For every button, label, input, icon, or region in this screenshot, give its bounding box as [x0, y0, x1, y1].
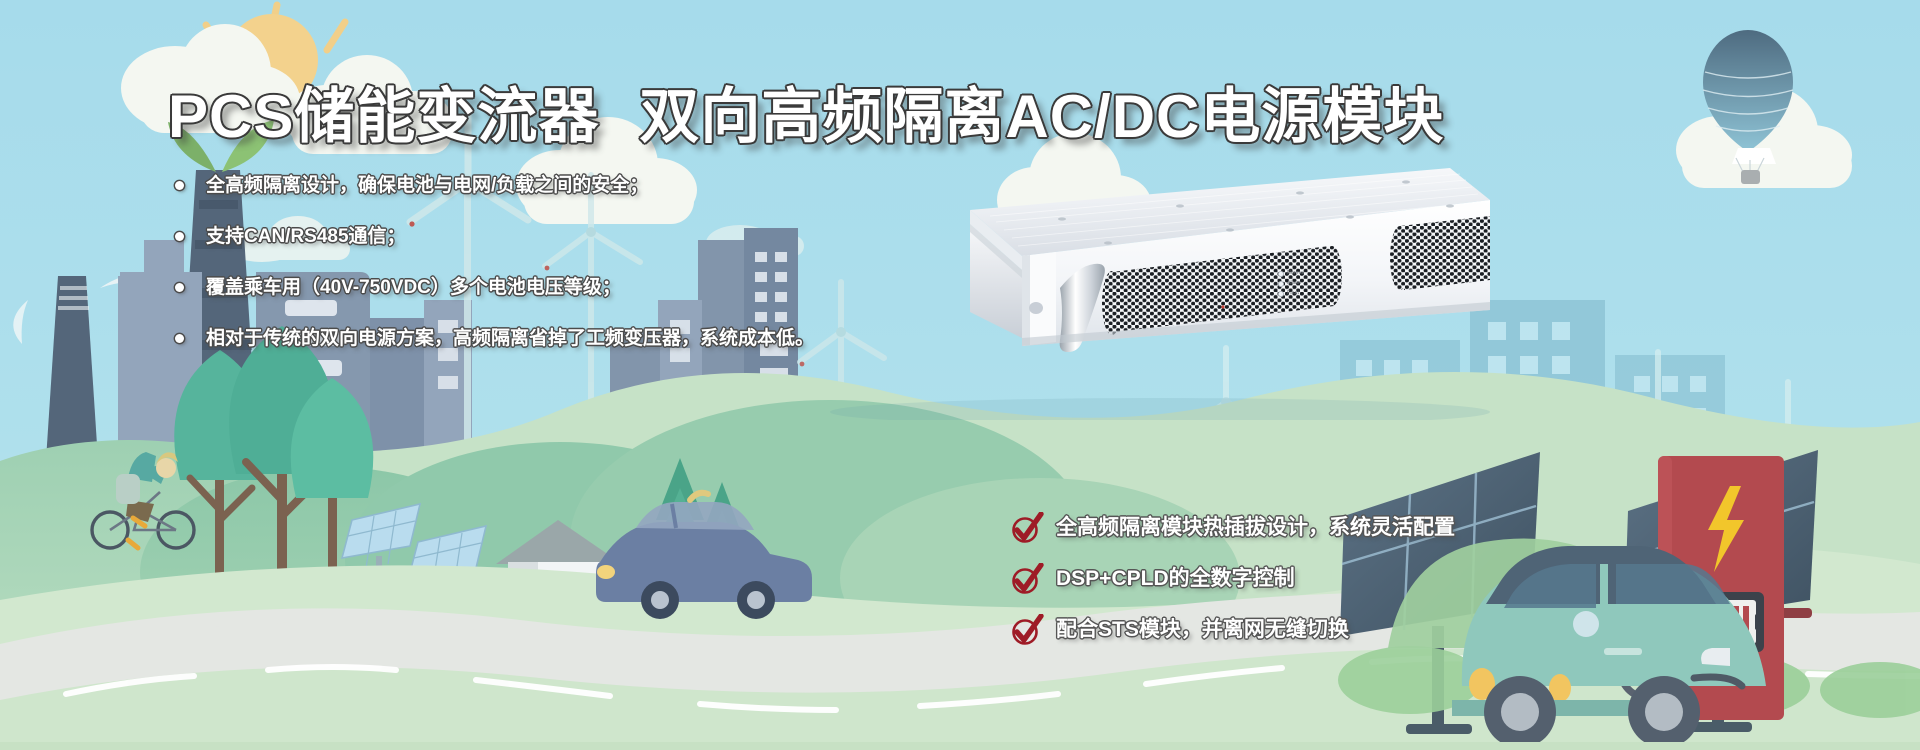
led-label-alarm: Alarm — [1287, 280, 1301, 286]
list-item: DSP+CPLD的全数字控制 — [1010, 565, 1710, 593]
car-blue — [596, 493, 812, 619]
highlight-text: 全高频隔离模块热插拔设计，系统灵活配置 — [1056, 516, 1455, 539]
pcs-rack-module: Normal Alarm Fault — [760, 160, 1490, 420]
led-label-fault: Fault — [1287, 290, 1299, 296]
feature-text: 支持CAN/RS485通信； — [206, 226, 406, 247]
cyclist — [92, 452, 194, 548]
highlight-list: 全高频隔离模块热插拔设计，系统灵活配置 DSP+CPLD的全数字控制 配合STS… — [1010, 514, 1710, 667]
list-item: 相对于传统的双向电源方案，高频隔离省掉了工频变压器，系统成本低。 — [170, 325, 860, 352]
led-indicators — [1278, 271, 1283, 296]
trees — [174, 326, 747, 616]
highlight-text: 配合STS模块，并离网无缝切换 — [1056, 618, 1349, 641]
title-part-1: PCS储能变流器 — [168, 83, 599, 150]
list-item: 支持CAN/RS485通信； — [170, 223, 860, 250]
house — [496, 520, 622, 628]
list-item: 全高频隔离模块热插拔设计，系统灵活配置 — [1010, 514, 1710, 542]
check-mark-icon — [1010, 512, 1044, 544]
hot-air-balloon-icon — [1703, 30, 1793, 184]
check-mark-icon — [1010, 563, 1044, 595]
bullet-dot-icon — [175, 334, 184, 343]
bullet-dot-icon — [175, 181, 184, 190]
check-mark-icon — [1010, 614, 1044, 646]
small-chimney — [13, 275, 158, 460]
page-title: PCS储能变流器双向高频隔离AC/DC电源模块 — [168, 68, 1444, 155]
feature-list: 全高频隔离设计，确保电池与电网/负载之间的安全； 支持CAN/RS485通信； … — [170, 172, 860, 362]
product-banner: Normal Alarm Fault PCS储能变流器双向高频隔离AC/DC电源… — [0, 0, 1920, 750]
list-item: 配合STS模块，并离网无缝切换 — [1010, 616, 1710, 644]
bullet-dot-icon — [175, 232, 184, 241]
bullet-dot-icon — [175, 283, 184, 292]
solar-panel — [408, 526, 486, 609]
list-item: 全高频隔离设计，确保电池与电网/负载之间的安全； — [170, 172, 860, 199]
title-part-2: 双向高频隔离AC/DC电源模块 — [639, 83, 1444, 150]
solar-panel — [342, 504, 420, 587]
wind-turbine — [1746, 382, 1832, 580]
list-item: 覆盖乘车用（40V-750VDC）多个电池电压等级； — [170, 274, 860, 301]
highlight-text: DSP+CPLD的全数字控制 — [1056, 567, 1295, 590]
cloud — [1676, 86, 1852, 188]
led-label-normal: Normal — [1287, 270, 1304, 276]
feature-text: 覆盖乘车用（40V-750VDC）多个电池电压等级； — [206, 277, 621, 298]
feature-text: 相对于传统的双向电源方案，高频隔离省掉了工频变压器，系统成本低。 — [206, 328, 814, 349]
feature-text: 全高频隔离设计，确保电池与电网/负载之间的安全； — [206, 175, 648, 196]
